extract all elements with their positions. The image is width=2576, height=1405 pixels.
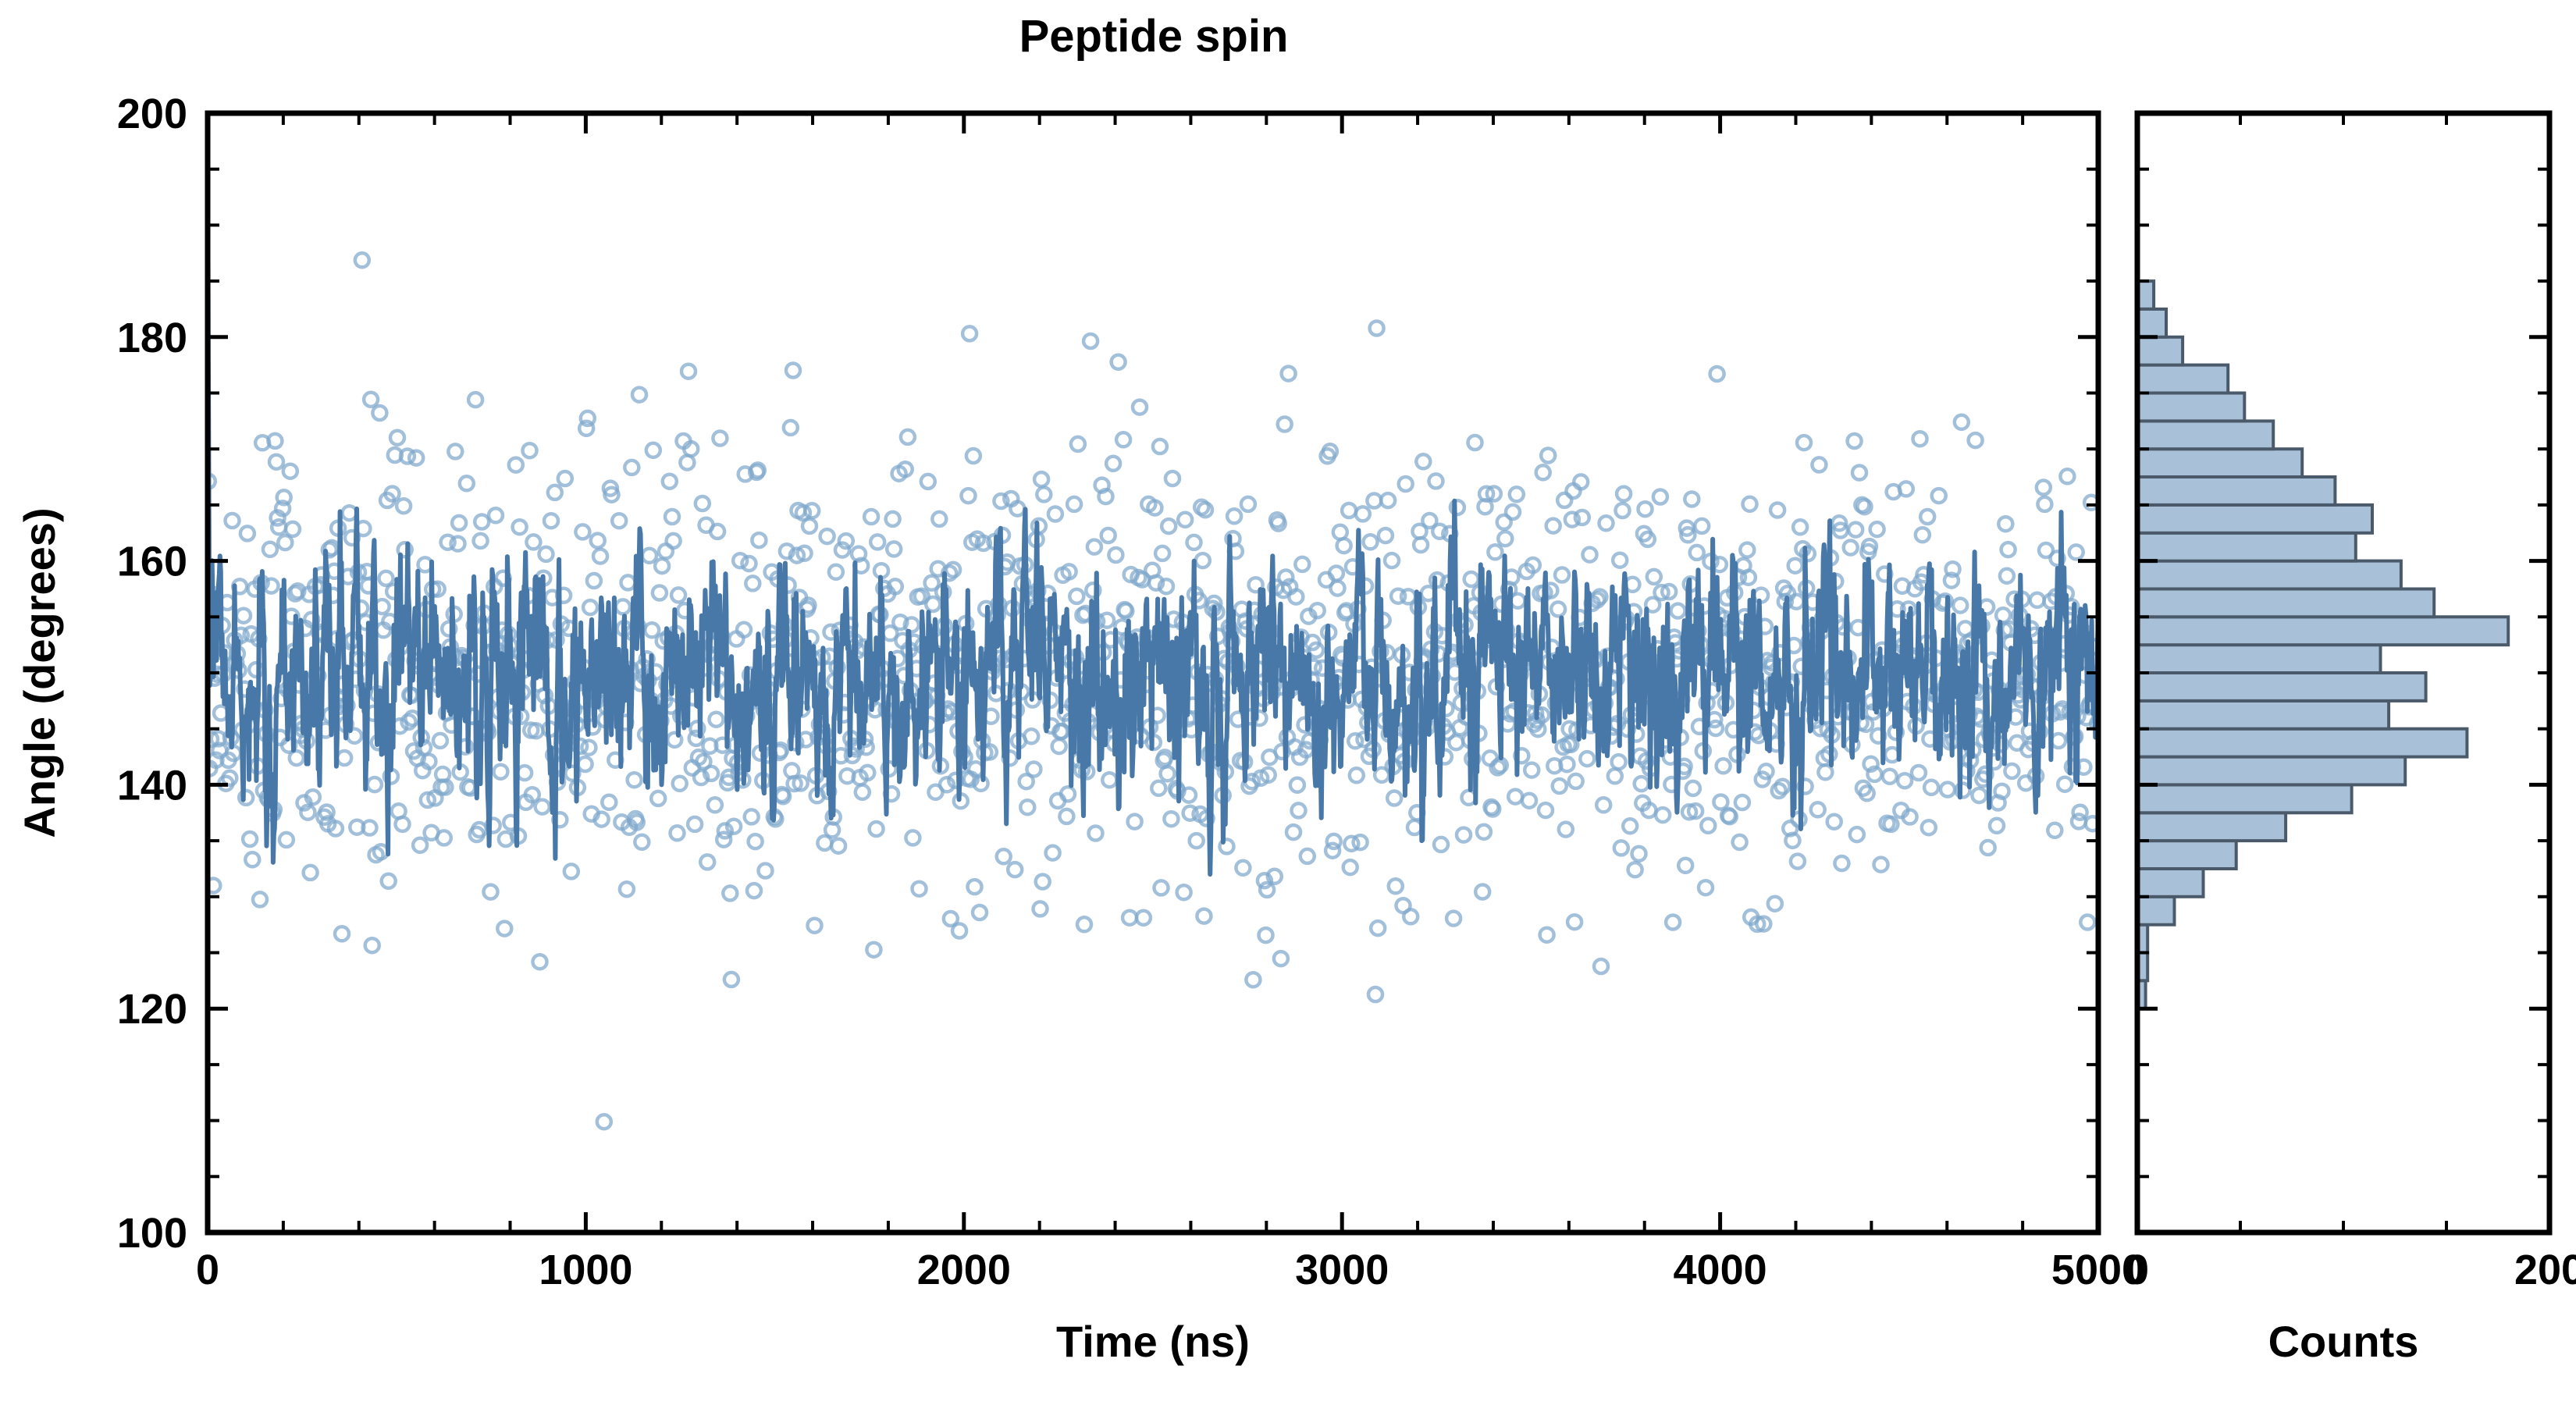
scatter-point bbox=[710, 525, 724, 539]
scatter-point bbox=[1106, 457, 1120, 471]
scatter-point bbox=[283, 464, 297, 478]
scatter-point bbox=[1137, 911, 1151, 925]
scatter-point bbox=[1686, 781, 1700, 795]
scatter-point bbox=[1290, 778, 1304, 792]
scatter-point bbox=[1541, 449, 1555, 463]
scatter-point bbox=[742, 557, 756, 571]
scatter-point bbox=[926, 597, 940, 611]
scatter-point bbox=[1190, 834, 1204, 848]
scatter-point bbox=[1368, 987, 1382, 1001]
scatter-point bbox=[1046, 846, 1060, 860]
scatter-point bbox=[1788, 559, 1802, 573]
scatter-point bbox=[805, 503, 819, 518]
x-tick-label: 1000 bbox=[539, 1247, 632, 1293]
scatter-point bbox=[620, 882, 634, 896]
scatter-point bbox=[474, 534, 488, 548]
scatter-point bbox=[1671, 604, 1685, 618]
scatter-point bbox=[866, 943, 881, 957]
scatter-point bbox=[1371, 921, 1385, 935]
scatter-point bbox=[906, 831, 920, 845]
scatter-point bbox=[1155, 546, 1169, 560]
scatter-point bbox=[2048, 823, 2062, 838]
scatter-point bbox=[1052, 739, 1066, 753]
scatter-point bbox=[533, 955, 547, 969]
scatter-point bbox=[1848, 434, 1862, 448]
scatter-point bbox=[1743, 497, 1757, 511]
scatter-point bbox=[1594, 959, 1608, 973]
scatter-point bbox=[962, 489, 976, 503]
scatter-point bbox=[952, 924, 966, 938]
scatter-point bbox=[1295, 557, 1309, 571]
scatter-point bbox=[1024, 729, 1038, 743]
scatter-point bbox=[269, 455, 283, 469]
scatter-point bbox=[671, 826, 685, 840]
scatter-point bbox=[1614, 841, 1628, 855]
x-tick-label: 4000 bbox=[1674, 1247, 1767, 1293]
scatter-point bbox=[1553, 779, 1567, 793]
scatter-point bbox=[1850, 827, 1864, 841]
scatter-point bbox=[708, 798, 722, 812]
scatter-point bbox=[1008, 863, 1022, 877]
scatter-point bbox=[808, 919, 822, 933]
scatter-point bbox=[864, 510, 878, 524]
scatter-point bbox=[493, 765, 507, 779]
histogram-bar bbox=[2137, 897, 2175, 925]
scatter-point bbox=[616, 599, 630, 614]
scatter-point bbox=[628, 773, 642, 787]
scatter-point bbox=[624, 461, 639, 475]
scatter-point bbox=[253, 892, 267, 906]
scatter-point bbox=[1898, 774, 1912, 788]
hist-x-tick-label: 200 bbox=[2514, 1247, 2576, 1293]
figure-root: Peptide spin 010002000300 bbox=[0, 0, 2576, 1405]
scatter-point bbox=[1059, 809, 1073, 823]
scatter-point bbox=[802, 519, 817, 533]
scatter-point bbox=[1123, 911, 1137, 925]
y-axis-label: Angle (degrees) bbox=[15, 507, 64, 838]
hist-x-axis-label: Counts bbox=[2268, 1317, 2419, 1366]
scatter-point bbox=[1551, 602, 1565, 616]
scatter-point bbox=[710, 713, 724, 727]
scatter-point bbox=[587, 574, 601, 588]
scatter-point bbox=[290, 751, 304, 765]
scatter-point bbox=[1955, 415, 1969, 429]
scatter-point bbox=[1197, 909, 1211, 923]
histogram-bar bbox=[2137, 365, 2228, 393]
scatter-point bbox=[1608, 769, 1622, 783]
scatter-point bbox=[304, 866, 318, 880]
scatter-point bbox=[365, 938, 379, 952]
scatter-point bbox=[921, 475, 935, 489]
scatter-point bbox=[1793, 520, 1807, 534]
scatter-point bbox=[1036, 875, 1050, 889]
scatter-point bbox=[1133, 400, 1147, 414]
scatter-point bbox=[278, 535, 292, 550]
scatter-point bbox=[2051, 734, 2065, 748]
scatter-point bbox=[593, 550, 607, 564]
scatter-point bbox=[2037, 497, 2051, 511]
scatter-point bbox=[2000, 569, 2014, 583]
main-x-tick-labels: 010002000300040005000 bbox=[196, 1247, 2145, 1293]
scatter-point bbox=[1364, 535, 1378, 549]
scatter-point bbox=[932, 512, 946, 526]
scatter-point bbox=[696, 496, 710, 510]
scatter-point bbox=[452, 516, 466, 530]
scatter-point bbox=[784, 421, 798, 435]
main-y-tick-labels: 100120140160180200 bbox=[117, 91, 187, 1257]
scatter-point bbox=[1101, 528, 1115, 542]
scatter-point bbox=[1852, 466, 1866, 480]
y-tick-label: 180 bbox=[117, 315, 187, 361]
scatter-point bbox=[1381, 493, 1395, 507]
scatter-point bbox=[1282, 367, 1296, 381]
scatter-point bbox=[1617, 487, 1631, 501]
scatter-point bbox=[1735, 795, 1749, 809]
scatter-point bbox=[1153, 439, 1167, 454]
scatter-point bbox=[1102, 773, 1116, 787]
scatter-point bbox=[2073, 806, 2087, 820]
scatter-point bbox=[2080, 916, 2094, 930]
scatter-point bbox=[1546, 519, 1560, 533]
scatter-point bbox=[653, 586, 667, 600]
scatter-point bbox=[409, 451, 423, 465]
scatter-point bbox=[1628, 863, 1642, 877]
scatter-point bbox=[1695, 519, 1709, 533]
scatter-point bbox=[591, 534, 605, 548]
scatter-point bbox=[635, 835, 649, 849]
scatter-point bbox=[642, 549, 656, 563]
scatter-point bbox=[243, 832, 257, 846]
scatter-point bbox=[1922, 820, 1936, 834]
scatter-point bbox=[1701, 819, 1715, 833]
histogram-bars bbox=[2137, 281, 2508, 1008]
hist-x-tick-label: 0 bbox=[2126, 1247, 2149, 1293]
scatter-point bbox=[1969, 433, 1983, 447]
scatter-point bbox=[1797, 436, 1811, 450]
scatter-point bbox=[1522, 794, 1536, 808]
scatter-point bbox=[1069, 589, 1083, 603]
scatter-point bbox=[1932, 489, 1946, 503]
y-tick-label: 160 bbox=[117, 539, 187, 585]
scatter-point bbox=[1116, 432, 1130, 446]
scatter-point bbox=[1559, 823, 1573, 837]
scatter-point bbox=[523, 443, 537, 457]
scatter-point bbox=[946, 563, 960, 577]
histogram-bar bbox=[2137, 813, 2286, 841]
scatter-point bbox=[582, 741, 596, 755]
scatter-point bbox=[1350, 768, 1364, 782]
histogram-bar bbox=[2137, 533, 2356, 561]
scatter-point bbox=[2030, 593, 2044, 607]
y-tick-label: 140 bbox=[117, 762, 187, 809]
scatter-point bbox=[497, 922, 511, 936]
scatter-point bbox=[597, 1115, 611, 1129]
scatter-point bbox=[1740, 543, 1754, 557]
scatter-point bbox=[1089, 827, 1103, 841]
y-tick-label: 120 bbox=[117, 986, 187, 1033]
chart-title: Peptide spin bbox=[1019, 11, 1289, 62]
scatter-point bbox=[1647, 570, 1661, 584]
scatter-point bbox=[475, 515, 489, 529]
scatter-point bbox=[1613, 553, 1627, 567]
histogram-bar bbox=[2137, 841, 2236, 869]
histogram-bar bbox=[2137, 617, 2508, 645]
scatter-point bbox=[1246, 973, 1260, 987]
scatter-point bbox=[1811, 802, 1825, 816]
scatter-point bbox=[752, 533, 766, 547]
scatter-point bbox=[355, 253, 369, 267]
scatter-point bbox=[1161, 767, 1175, 781]
scatter-point bbox=[1387, 791, 1401, 806]
scatter-point bbox=[2069, 545, 2083, 559]
running-average-line bbox=[208, 119, 2098, 874]
scatter-point bbox=[489, 508, 503, 522]
scatter-point bbox=[1071, 437, 1085, 451]
scatter-point bbox=[1612, 755, 1626, 769]
scatter-point bbox=[2001, 542, 2016, 557]
scatter-point bbox=[831, 839, 845, 853]
scatter-point bbox=[1367, 494, 1381, 508]
scatter-point bbox=[1883, 770, 1897, 784]
scatter-point bbox=[433, 734, 447, 748]
histogram-bar bbox=[2137, 701, 2389, 729]
scatter-point bbox=[1429, 474, 1443, 488]
scatter-point bbox=[1260, 883, 1274, 897]
scatter-point bbox=[448, 444, 462, 458]
scatter-point bbox=[663, 475, 677, 489]
scatter-point bbox=[279, 833, 294, 847]
scatter-point bbox=[1834, 856, 1848, 870]
scatter-point bbox=[1912, 766, 1926, 780]
scatter-point bbox=[1331, 582, 1345, 596]
scatter-point bbox=[870, 822, 884, 836]
scatter-point bbox=[713, 432, 727, 446]
scatter-point bbox=[1379, 528, 1393, 542]
scatter-point bbox=[1446, 912, 1461, 926]
histogram-bar bbox=[2137, 589, 2434, 617]
scatter-point bbox=[671, 588, 685, 602]
scatter-point bbox=[612, 514, 626, 528]
scatter-point bbox=[1259, 928, 1273, 942]
scatter-point bbox=[724, 973, 738, 987]
scatter-point bbox=[1525, 763, 1539, 777]
scatter-point bbox=[1567, 915, 1582, 929]
hist-x-tick-labels: 0200 bbox=[2126, 1247, 2576, 1293]
histogram-bar bbox=[2137, 477, 2335, 505]
scatter-point bbox=[1165, 471, 1179, 486]
scatter-point bbox=[1178, 513, 1192, 527]
histogram-bar bbox=[2137, 449, 2302, 477]
scatter-point bbox=[1034, 472, 1048, 486]
scatter-point bbox=[1555, 568, 1569, 582]
scatter-point bbox=[1508, 790, 1522, 804]
scatter-point bbox=[1678, 859, 1692, 873]
scatter-point bbox=[1699, 880, 1713, 895]
scatter-point bbox=[602, 795, 616, 809]
scatter-point bbox=[1690, 546, 1704, 560]
scatter-point bbox=[1599, 516, 1614, 530]
scatter-point bbox=[1539, 803, 1553, 817]
scatter-point bbox=[1370, 322, 1384, 336]
scatter-point bbox=[1087, 540, 1101, 554]
y-tick-label: 100 bbox=[117, 1210, 187, 1257]
scatter-point bbox=[382, 874, 396, 888]
scatter-point bbox=[1399, 477, 1413, 491]
scatter-point bbox=[1596, 798, 1610, 812]
scatter-point bbox=[651, 791, 665, 806]
scatter-point bbox=[509, 458, 523, 472]
scatter-point bbox=[558, 471, 572, 486]
scatter-point bbox=[1292, 803, 1306, 817]
scatter-point bbox=[368, 777, 382, 791]
scatter-point bbox=[249, 663, 263, 677]
scatter-point bbox=[723, 886, 737, 900]
scatter-point bbox=[700, 855, 714, 869]
scatter-point bbox=[1196, 553, 1210, 567]
scatter-point bbox=[1953, 599, 1967, 613]
scatter-point bbox=[759, 864, 773, 878]
scatter-point bbox=[335, 927, 349, 941]
scatter-point bbox=[1187, 535, 1201, 550]
scatter-point bbox=[1583, 548, 1597, 562]
scatter-point bbox=[526, 535, 540, 549]
scatter-point bbox=[1354, 835, 1368, 849]
scatter-point bbox=[870, 535, 884, 549]
scatter-point bbox=[1498, 532, 1512, 546]
histogram-panel: 0200 Counts bbox=[2126, 113, 2576, 1366]
scatter-point bbox=[1164, 812, 1178, 826]
scatter-point bbox=[1870, 522, 1884, 536]
scatter-point bbox=[237, 609, 251, 623]
scatter-point bbox=[1177, 885, 1191, 899]
scatter-point bbox=[1327, 834, 1341, 848]
scatter-point bbox=[544, 514, 558, 528]
scatter-point bbox=[583, 600, 597, 614]
scatter-point bbox=[1920, 510, 1934, 524]
scatter-point bbox=[372, 406, 386, 420]
x-axis-label: Time (ns) bbox=[1056, 1317, 1250, 1366]
scatter-point bbox=[856, 785, 870, 799]
histogram-bar bbox=[2137, 561, 2401, 589]
scatter-point bbox=[1638, 502, 1653, 516]
scatter-point bbox=[1632, 847, 1646, 861]
scatter-point bbox=[535, 800, 550, 814]
scatter-point bbox=[1385, 553, 1399, 567]
scatter-point bbox=[1227, 509, 1241, 523]
scatter-point bbox=[1155, 880, 1169, 895]
scatter-point bbox=[1343, 860, 1357, 874]
scatter-point bbox=[1623, 819, 1637, 833]
histogram-bar bbox=[2137, 784, 2352, 813]
scatter-point bbox=[1770, 503, 1784, 518]
scatter-point bbox=[665, 510, 679, 524]
scatter-point bbox=[968, 880, 982, 894]
scatter-point bbox=[578, 757, 592, 771]
scatter-point bbox=[1236, 861, 1250, 875]
histogram-bar bbox=[2137, 421, 2273, 449]
scatter-point bbox=[1037, 487, 1051, 501]
x-tick-label: 0 bbox=[196, 1247, 219, 1293]
scatter-point bbox=[2037, 481, 2051, 495]
scatter-point bbox=[286, 522, 300, 536]
scatter-point bbox=[1616, 503, 1630, 518]
scatter-point bbox=[2058, 777, 2072, 791]
scatter-point bbox=[1713, 795, 1727, 809]
scatter-point bbox=[1151, 781, 1165, 795]
scatter-point bbox=[437, 831, 451, 845]
scatter-point bbox=[886, 512, 900, 526]
scatter-point bbox=[962, 326, 977, 340]
scatter-point bbox=[621, 575, 635, 589]
main-panel: 010002000300040005000 100120140160180200… bbox=[15, 91, 2145, 1366]
scatter-point bbox=[973, 905, 987, 919]
scatter-point bbox=[1972, 788, 1986, 802]
scatter-point bbox=[966, 449, 980, 463]
scatter-point bbox=[484, 885, 498, 899]
scatter-point bbox=[1998, 517, 2012, 531]
scatter-point bbox=[673, 777, 687, 791]
scatter-point bbox=[820, 529, 834, 543]
histogram-bar bbox=[2137, 757, 2405, 785]
scatter-point bbox=[1034, 902, 1048, 916]
scatter-point bbox=[1434, 838, 1448, 852]
scatter-point bbox=[548, 486, 562, 500]
scatter-point bbox=[1540, 928, 1554, 942]
scatter-point bbox=[1077, 917, 1091, 931]
scatter-point bbox=[396, 817, 410, 831]
scatter-point bbox=[786, 364, 800, 378]
scatter-point bbox=[1278, 418, 1292, 432]
scatter-point bbox=[901, 430, 915, 444]
x-tick-label: 3000 bbox=[1295, 1247, 1389, 1293]
scatter-point bbox=[688, 817, 702, 831]
scatter-point bbox=[745, 809, 759, 823]
scatter-point bbox=[1020, 800, 1034, 814]
scatter-point bbox=[564, 864, 578, 878]
histogram-bar bbox=[2137, 393, 2244, 421]
scatter-point bbox=[1580, 752, 1594, 766]
scatter-point bbox=[667, 534, 681, 548]
scatter-point bbox=[997, 849, 1011, 863]
scatter-point bbox=[1924, 781, 1938, 795]
histogram-bar bbox=[2137, 673, 2426, 701]
histogram-bar bbox=[2137, 309, 2166, 337]
scatter-point bbox=[887, 542, 901, 556]
scatter-point bbox=[1488, 545, 1502, 559]
scatter-point bbox=[1083, 334, 1098, 348]
y-tick-label: 200 bbox=[117, 91, 187, 137]
scatter-point bbox=[1108, 548, 1123, 562]
scatter-point bbox=[539, 547, 553, 561]
scatter-point bbox=[1916, 528, 1930, 542]
scatter-point bbox=[1475, 885, 1489, 899]
scatter-point bbox=[1162, 519, 1176, 533]
scatter-point bbox=[245, 852, 259, 866]
scatter-point bbox=[513, 520, 527, 534]
scatter-point bbox=[460, 476, 474, 490]
scatter-point bbox=[655, 559, 669, 573]
scatter-point bbox=[1389, 879, 1403, 893]
scatter-point bbox=[2005, 764, 2019, 778]
histogram-bar bbox=[2137, 645, 2381, 673]
scatter-point bbox=[1337, 539, 1351, 553]
scatter-point bbox=[272, 520, 286, 534]
scatter-point bbox=[1300, 849, 1315, 863]
scatter-point bbox=[1768, 897, 1782, 911]
scatter-point bbox=[1844, 541, 1858, 555]
scatter-point bbox=[1112, 355, 1126, 369]
histogram-bar bbox=[2137, 505, 2372, 533]
